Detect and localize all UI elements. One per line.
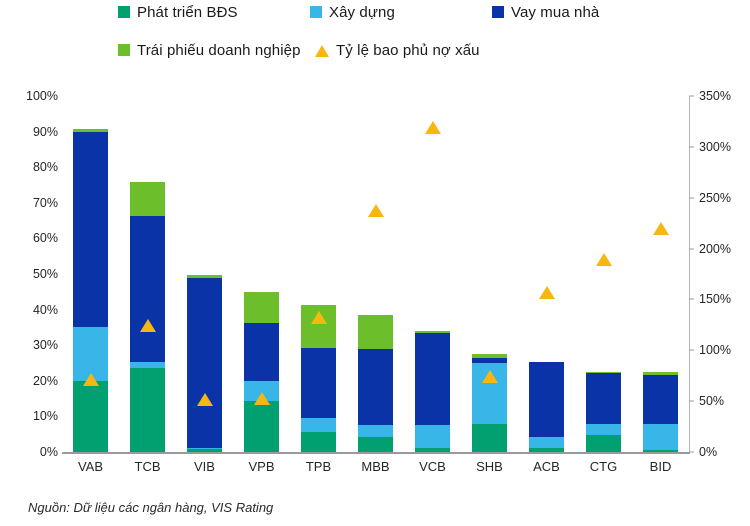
left-axis-tick-label: 0% [6,445,58,459]
left-axis-tick-label: 70% [6,196,58,210]
bar-segment[interactable] [415,425,450,448]
bar-segment[interactable] [130,362,165,368]
bar-segment[interactable] [586,435,621,452]
right-axis-tick-label: 200% [690,242,746,256]
legend-swatch-icon [118,6,130,18]
right-axis-tick-mark [689,146,694,147]
bar-segment[interactable] [529,362,564,437]
bar-segment[interactable] [301,348,336,418]
npl-coverage-marker[interactable] [482,370,498,383]
npl-coverage-marker[interactable] [596,253,612,266]
x-axis-tick-label: TPB [290,459,347,474]
bar-segment[interactable] [643,450,678,452]
left-axis-tick-label: 40% [6,303,58,317]
bar-segment[interactable] [586,372,621,373]
bar-segment[interactable] [643,372,678,375]
bar-segment[interactable] [130,216,165,362]
right-axis-tick-label: 300% [690,140,746,154]
right-axis-tick-label: 150% [690,292,746,306]
bar-group[interactable] [529,96,564,452]
left-axis: 0%10%20%30%40%50%60%70%80%90%100% [0,0,58,526]
bar-segment[interactable] [472,424,507,452]
left-axis-tick-label: 50% [6,267,58,281]
source-note: Nguồn: Dữ liệu các ngân hàng, VIS Rating [28,500,273,515]
npl-coverage-marker[interactable] [539,286,555,299]
x-axis-tick-label: TCB [119,459,176,474]
right-axis-tick-label: 250% [690,191,746,205]
npl-coverage-marker[interactable] [311,311,327,324]
bar-segment[interactable] [472,354,507,358]
right-axis-tick-mark [689,248,694,249]
npl-coverage-marker[interactable] [140,319,156,332]
right-axis-tick-mark [689,452,694,453]
legend-swatch-icon [118,44,130,56]
bar-segment[interactable] [187,275,222,278]
npl-coverage-marker[interactable] [83,373,99,386]
bar-group[interactable] [358,96,393,452]
left-axis-tick-label: 20% [6,374,58,388]
legend-label: Vay mua nhà [511,4,599,21]
x-axis-tick-label: VCB [404,459,461,474]
bar-segment[interactable] [130,182,165,216]
legend-label: Xây dựng [329,4,395,21]
bar-segment[interactable] [244,323,279,381]
bar-segment[interactable] [529,437,564,448]
right-axis-tick-label: 100% [690,343,746,357]
bar-segment[interactable] [586,424,621,435]
bar-segment[interactable] [73,132,108,328]
x-axis-tick-label: VIB [176,459,233,474]
x-axis-tick-label: VAB [62,459,119,474]
bar-segment[interactable] [130,368,165,452]
bar-segment[interactable] [187,448,222,449]
x-axis-tick-label: SHB [461,459,518,474]
right-axis-tick-mark [689,350,694,351]
chart-legend: Phát triển BĐSXây dựngVay mua nhà Trái p… [0,0,750,86]
bar-segment[interactable] [358,315,393,349]
bar-group[interactable] [586,96,621,452]
bar-segment[interactable] [244,292,279,323]
bar-segment[interactable] [187,449,222,452]
right-axis-tick-label: 350% [690,89,746,103]
bar-segment[interactable] [529,448,564,452]
x-axis-tick-label: ACB [518,459,575,474]
left-axis-tick-label: 30% [6,338,58,352]
right-axis: 0%50%100%150%200%250%300%350% [690,0,750,526]
x-axis-line [62,452,690,454]
left-axis-tick-label: 10% [6,409,58,423]
legend-swatch-icon [492,6,504,18]
legend-swatch-icon [310,6,322,18]
bar-segment[interactable] [358,437,393,452]
right-axis-tick-label: 0% [690,445,746,459]
npl-coverage-marker[interactable] [368,204,384,217]
bar-segment[interactable] [472,358,507,363]
right-axis-tick-mark [689,197,694,198]
bar-segment[interactable] [301,432,336,452]
legend-triangle-icon [315,45,329,57]
bar-segment[interactable] [586,373,621,424]
bar-segment[interactable] [73,381,108,452]
right-axis-tick-mark [689,96,694,97]
npl-coverage-marker[interactable] [425,121,441,134]
bar-segment[interactable] [415,331,450,333]
bar-segment[interactable] [244,401,279,452]
x-axis-tick-label: BID [632,459,689,474]
right-axis-tick-label: 50% [690,394,746,408]
legend-label: Trái phiếu doanh nghiệp [137,42,301,59]
bar-segment[interactable] [301,418,336,432]
legend-item[interactable]: Xây dựng [310,4,395,21]
bar-group[interactable] [73,96,108,452]
chart-container: Phát triển BĐSXây dựngVay mua nhà Trái p… [0,0,750,526]
left-axis-tick-label: 90% [6,125,58,139]
npl-coverage-marker[interactable] [653,222,669,235]
x-axis-tick-label: CTG [575,459,632,474]
bar-group[interactable] [130,96,165,452]
right-axis-line [689,96,690,453]
bar-segment[interactable] [643,375,678,424]
bar-group[interactable] [472,96,507,452]
x-axis-tick-label: VPB [233,459,290,474]
legend-label: Phát triển BĐS [137,4,238,21]
bar-segment[interactable] [415,333,450,425]
bar-segment[interactable] [358,349,393,425]
x-axis-tick-label: MBB [347,459,404,474]
bar-group[interactable] [415,96,450,452]
left-axis-tick-label: 100% [6,89,58,103]
legend-item[interactable]: Tỷ lệ bao phủ nợ xấu [315,42,480,59]
bar-segment[interactable] [643,424,678,450]
right-axis-tick-mark [689,401,694,402]
legend-item[interactable]: Phát triển BĐS [118,4,238,21]
right-axis-tick-mark [689,299,694,300]
npl-coverage-marker[interactable] [254,392,270,405]
left-axis-tick-label: 80% [6,160,58,174]
legend-item[interactable]: Vay mua nhà [492,4,599,21]
bar-segment[interactable] [187,278,222,448]
legend-label: Tỷ lệ bao phủ nợ xấu [336,42,480,59]
bar-segment[interactable] [415,448,450,452]
bar-segment[interactable] [73,129,108,132]
npl-coverage-marker[interactable] [197,393,213,406]
left-axis-tick-label: 60% [6,231,58,245]
bar-group[interactable] [643,96,678,452]
bar-segment[interactable] [358,425,393,437]
plot-area [62,96,688,452]
legend-item[interactable]: Trái phiếu doanh nghiệp [118,42,301,59]
bar-group[interactable] [301,96,336,452]
